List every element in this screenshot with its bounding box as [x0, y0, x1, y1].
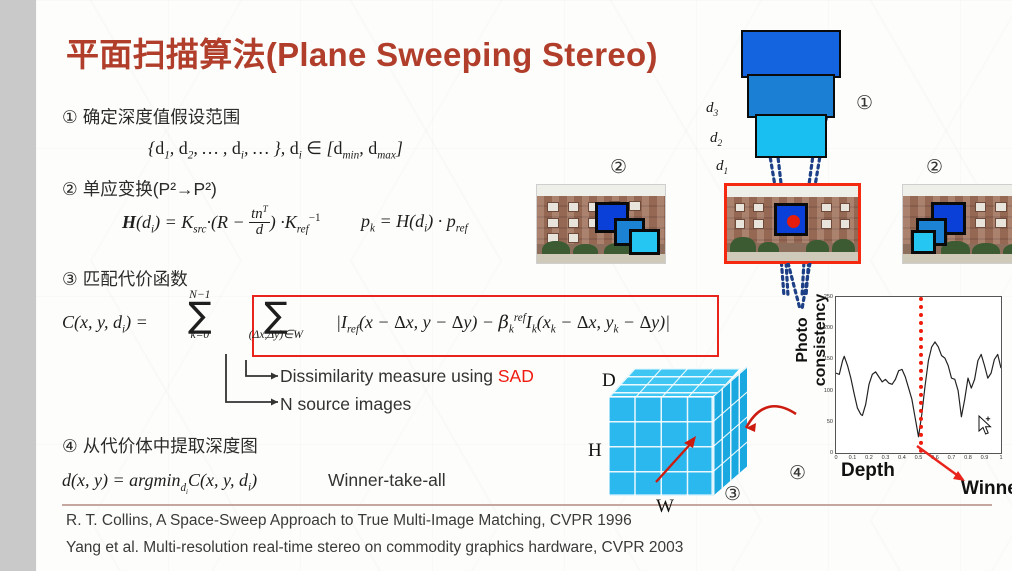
- formula-cost-lhs: C(x, y, di) =: [62, 312, 148, 336]
- outer-sum-lower-limit: k=0: [190, 330, 209, 340]
- citation-2: Yang et al. Multi-resolution real-time s…: [66, 539, 683, 557]
- step-2-heading: ②单应变换(P²→P²): [62, 176, 217, 201]
- cube-voxel-arrow: [652, 428, 706, 486]
- plane-sweep-diagram: d3 d2 d1 ①: [736, 30, 856, 160]
- step-3-label: 匹配代价函数: [83, 269, 188, 289]
- annotation-dissimilarity: Dissimilarity measure using SAD: [280, 366, 534, 387]
- chart-winner-marker-line: [919, 297, 923, 453]
- formula-cost-body: |Iref(x − Δx, y − Δy) − βkrefIk(xk − Δx,…: [336, 312, 670, 336]
- step-1-label: 确定深度值假设范围: [83, 107, 241, 127]
- screenshot-root: 平面扫描算法(Plane Sweeping Stereo) ①确定深度值假设范围…: [0, 0, 1012, 571]
- formula-outer-sum: ∑ N−1 k=0: [188, 300, 212, 330]
- depth-label-d3: d3: [706, 100, 718, 119]
- reference-image-center: [724, 183, 861, 264]
- step-4-marker: ④: [62, 436, 78, 457]
- winner-take-all-note: Winner-take-all: [328, 470, 446, 491]
- chart-x-tick: 0.4: [898, 455, 906, 461]
- step-2-label-prefix: 单应变换(: [83, 179, 159, 199]
- summation-inner-icon: ∑ (Δx,Δy)∈W: [264, 301, 288, 331]
- outer-sum-upper-limit: N−1: [189, 290, 210, 300]
- formula-depth-set: {d1, d2, … , di, … }, di ∈ [dmin, dmax]: [148, 138, 403, 162]
- chart-x-tick: 0.9: [981, 455, 989, 461]
- step-1-marker: ①: [62, 107, 78, 128]
- chart-x-tick: 1: [999, 455, 1002, 461]
- photo-consistency-chart: Photo consistency 050100150200250 00.10.…: [793, 292, 1012, 497]
- depth-label-d1: d1: [716, 158, 728, 177]
- depth-plane-2: [747, 74, 835, 118]
- chart-y-tick: 250: [824, 294, 833, 300]
- step-1-heading: ①确定深度值假设范围: [62, 104, 240, 129]
- slide-canvas: 平面扫描算法(Plane Sweeping Stereo) ①确定深度值假设范围…: [36, 0, 1012, 571]
- chart-x-tick: 0: [834, 455, 837, 461]
- source-image-left: [536, 184, 666, 264]
- cube-axis-label-D: D: [602, 370, 616, 392]
- step-2-label-suffix: ): [211, 179, 217, 199]
- chart-plot-area: 050100150200250 00.10.20.30.40.50.60.70.…: [835, 296, 1002, 454]
- step-4-label: 从代价体中提取深度图: [83, 436, 258, 456]
- patch-square-3: [911, 230, 937, 253]
- formula-homography: H(di) = Ksrc·(R − tnTd) ·Kref−1: [122, 205, 321, 239]
- chart-y-tick: 50: [827, 419, 833, 425]
- chart-y-tick: 150: [824, 356, 833, 362]
- step-3-heading: ③匹配代价函数: [62, 266, 188, 291]
- inner-sum-lower-limit: (Δx,Δy)∈W: [249, 330, 303, 340]
- chart-y-tick: 0: [830, 450, 833, 456]
- formula-point-map: pk = H(di) · pref: [361, 211, 468, 235]
- dissimilarity-text: Dissimilarity measure using: [280, 366, 498, 386]
- cube-marker: ③: [724, 483, 741, 506]
- chart-y-tick: 200: [824, 325, 833, 331]
- formula-inner-sum: ∑ (Δx,Δy)∈W: [264, 300, 288, 330]
- citation-1: R. T. Collins, A Space-Sweep Approach to…: [66, 512, 632, 530]
- chart-marker: ④: [789, 462, 806, 485]
- formula-argmin: d(x, y) = argmindiC(x, y, di): [62, 470, 257, 496]
- annotation-n-source-images: N source images: [280, 394, 411, 415]
- cube-axis-label-W: W: [656, 496, 674, 518]
- sad-metric-label: SAD: [498, 366, 534, 386]
- chart-x-axis-label: Depth: [841, 460, 895, 482]
- left-photo-marker: ②: [610, 156, 627, 179]
- source-image-right: [902, 184, 1012, 264]
- cube-axis-label-H: H: [588, 440, 602, 462]
- depth-plane-3: [741, 30, 841, 78]
- step-4-heading: ④从代价体中提取深度图: [62, 433, 258, 458]
- patch-square-3: [629, 229, 660, 256]
- citation-divider: [62, 504, 992, 506]
- chart-y-tick: 100: [824, 388, 833, 394]
- summation-outer-icon: ∑ N−1 k=0: [188, 301, 212, 331]
- winner-arrow: [915, 444, 975, 486]
- depth-label-d2: d2: [710, 130, 722, 149]
- step-2-marker: ②: [62, 179, 78, 200]
- cost-volume-cube: D H W ③: [608, 368, 758, 498]
- page-title: 平面扫描算法(Plane Sweeping Stereo): [66, 28, 658, 76]
- reference-point-dot: [787, 215, 800, 228]
- sweep-marker: ①: [856, 92, 873, 115]
- step-3-marker: ③: [62, 269, 78, 290]
- right-photo-marker: ②: [926, 156, 943, 179]
- step-2-projective-space: P²→P²: [159, 179, 212, 199]
- depth-plane-1: [755, 114, 827, 158]
- mouse-cursor-icon: [978, 415, 996, 437]
